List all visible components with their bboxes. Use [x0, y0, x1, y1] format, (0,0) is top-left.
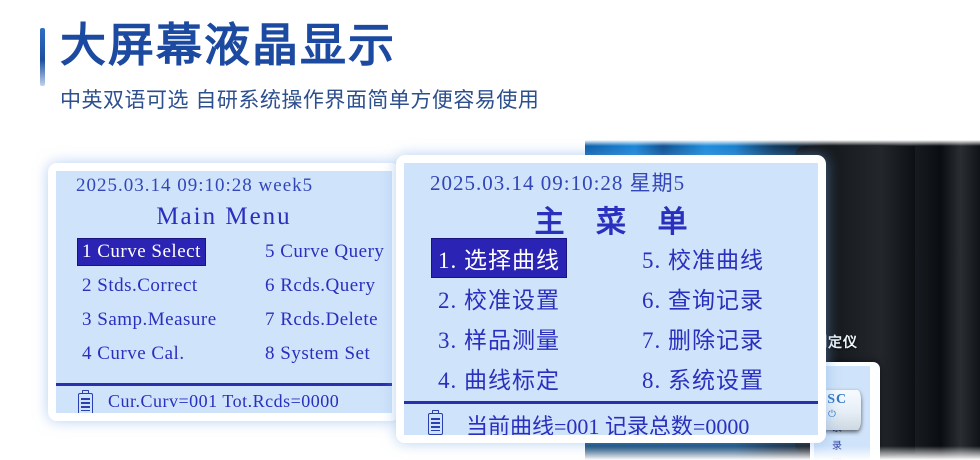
lcd-cn-menu-row: 1. 选择曲线 5. 校准曲线: [404, 239, 818, 279]
lcd-en-status: Cur.Curv=001 Tot.Rcds=0000: [56, 391, 392, 412]
lcd-en-menu-row: 2 Stds.Correct 6 Rcds.Query: [56, 273, 392, 307]
menu-item-system-settings[interactable]: 8. 系统设置: [636, 359, 770, 397]
lcd-cn-datetime: 2025.03.14 09:10:28 星期5: [404, 167, 818, 193]
lcd-cn-menu-row: 3. 样品测量 7. 删除记录: [404, 319, 818, 359]
lcd-cn-screen-title: 主 菜 单: [404, 197, 818, 241]
menu-item-calibration-curve[interactable]: 5. 校准曲线: [636, 239, 770, 277]
menu-item-sample-measure[interactable]: 3. 样品测量: [432, 319, 566, 357]
lcd-en-menu-row: 3 Samp.Measure 7 Rcds.Delete: [56, 307, 392, 341]
lcd-en-menu: 1 Curve Select 5 Curve Query 2 Stds.Corr…: [56, 239, 392, 375]
menu-item-curve-calibration[interactable]: 4. 曲线标定: [432, 359, 566, 397]
menu-item-curve-query[interactable]: 5 Curve Query: [261, 239, 388, 265]
menu-item-system-set[interactable]: 8 System Set: [261, 341, 374, 367]
lcd-en-menu-row: 1 Curve Select 5 Curve Query: [56, 239, 392, 273]
header: 大屏幕液晶显示 中英双语可选 自研系统操作界面简单方便容易使用: [0, 0, 980, 140]
poster-stage: 大屏幕液晶显示 中英双语可选 自研系统操作界面简单方便容易使用 测定仪 线录录置…: [0, 0, 980, 460]
title-accent-bar: [40, 28, 45, 86]
lcd-en-menu-row: 4 Curve Cal. 8 System Set: [56, 341, 392, 375]
lcd-panel-chinese: 2025.03.14 09:10:28 星期5 主 菜 单 1. 选择曲线 5.…: [396, 155, 826, 443]
lcd-screen-english: 2025.03.14 09:10:28 week5 Main Menu 1 Cu…: [56, 171, 392, 413]
lcd-en-divider: [56, 383, 392, 386]
menu-item-curve-select[interactable]: 1 Curve Select: [78, 239, 205, 265]
lcd-panel-english: 2025.03.14 09:10:28 week5 Main Menu 1 Cu…: [48, 163, 400, 421]
menu-item-rcds-query[interactable]: 6 Rcds.Query: [261, 273, 379, 299]
lcd-cn-divider: [404, 401, 818, 404]
lcd-cn-menu: 1. 选择曲线 5. 校准曲线 2. 校准设置 6. 查询记录 3. 样品测量 …: [404, 239, 818, 399]
lcd-cn-menu-row: 2. 校准设置 6. 查询记录: [404, 279, 818, 319]
page-title: 大屏幕液晶显示: [60, 22, 396, 68]
menu-item-curve-cal[interactable]: 4 Curve Cal.: [78, 341, 189, 367]
menu-item-select-curve[interactable]: 1. 选择曲线: [432, 239, 566, 277]
page-subtitle: 中英双语可选 自研系统操作界面简单方便容易使用: [60, 84, 539, 114]
menu-item-samp-measure[interactable]: 3 Samp.Measure: [78, 307, 221, 333]
lcd-cn-status: 当前曲线=001 记录总数=0000: [404, 409, 818, 435]
lcd-cn-menu-row: 4. 曲线标定 8. 系统设置: [404, 359, 818, 399]
lcd-screen-chinese: 2025.03.14 09:10:28 星期5 主 菜 单 1. 选择曲线 5.…: [404, 163, 818, 435]
menu-item-rcds-delete[interactable]: 7 Rcds.Delete: [261, 307, 382, 333]
menu-item-delete-records[interactable]: 7. 删除记录: [636, 319, 770, 357]
lcd-en-screen-title: Main Menu: [56, 203, 392, 231]
lcd-en-datetime: 2025.03.14 09:10:28 week5: [56, 175, 392, 201]
menu-item-query-records[interactable]: 6. 查询记录: [636, 279, 770, 317]
menu-item-calibration-settings[interactable]: 2. 校准设置: [432, 279, 566, 317]
menu-item-stds-correct[interactable]: 2 Stds.Correct: [78, 273, 202, 299]
